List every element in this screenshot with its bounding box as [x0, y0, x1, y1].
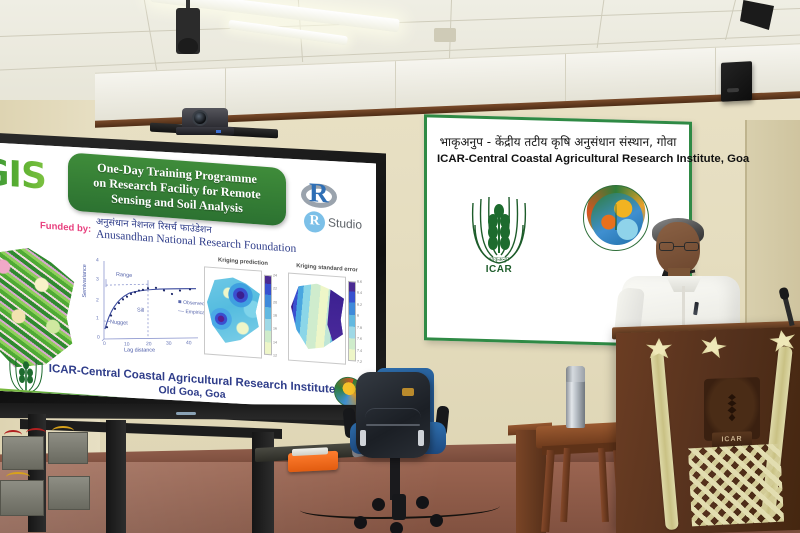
- backpack-logo: [402, 388, 414, 396]
- variogram-annotation-range: Range: [116, 272, 132, 279]
- variogram-ytick: 0: [97, 334, 100, 340]
- variogram-xtick: 30: [166, 341, 172, 347]
- ptz-conference-camera[interactable]: [176, 108, 234, 138]
- kriging-prediction-map: Kriging prediction 24 22 20 18 16 14 12: [204, 266, 282, 364]
- cbar-tick: 14: [273, 340, 287, 345]
- variogram-chart: Semivariance Lag distance 4 3 2 1 0 0 10…: [86, 252, 202, 365]
- variogram-legend-observed: Observed: [183, 300, 205, 308]
- pen-icon: [693, 302, 699, 315]
- interactive-flat-panel-display[interactable]: GIS One-Day Training Programme on Resear…: [0, 128, 386, 428]
- banner-hindi-title: भाकृअनुप - केंद्रीय तटीय कृषि अनुसंधान स…: [437, 133, 679, 150]
- ceiling-fixture-bracket: [434, 28, 456, 42]
- icar-emblem-hindi-label: भाकृअनुप: [467, 255, 531, 263]
- variogram-ytick: 1: [96, 315, 99, 321]
- orange-power-strip[interactable]: [288, 451, 338, 473]
- variogram-xlabel: Lag distance: [124, 348, 156, 354]
- steel-thermos-flask[interactable]: [566, 366, 585, 428]
- kriging-prediction-colorbar: [264, 275, 272, 356]
- variogram-xtick: 10: [124, 341, 130, 347]
- cbar-tick: 8.6: [357, 280, 371, 285]
- palm-leaf-woven-panel: [688, 444, 784, 527]
- cbar-tick: 12: [273, 353, 287, 358]
- cbar-tick: 16: [273, 327, 287, 332]
- variogram-annotation-nugget: Nugget: [110, 319, 128, 326]
- icar-wheat-emblem: भाकृअनुप ICAR: [467, 185, 531, 277]
- variogram-xtick: 0: [103, 341, 106, 347]
- camera-lens-icon: [192, 110, 208, 126]
- variogram-annotation-sill: Sill: [137, 307, 144, 314]
- display-screen[interactable]: GIS One-Day Training Programme on Resear…: [0, 139, 376, 411]
- gis-logo-text: GIS: [0, 152, 46, 198]
- variogram-legend-empirical: Empirical: [185, 309, 206, 317]
- display-status-led: [176, 412, 196, 415]
- cbar-tick: 7.6: [357, 337, 371, 342]
- variogram-legend: ■ Observed — Empirical: [178, 298, 206, 318]
- variogram-ytick: 3: [96, 276, 99, 282]
- cbar-tick: 24: [273, 273, 287, 278]
- cbar-tick: 8.2: [357, 302, 371, 307]
- cbar-tick: 7.8: [357, 325, 371, 330]
- kriging-standard-error-colorbar: [348, 281, 356, 362]
- rstudio-logo-word: Studio: [328, 215, 362, 231]
- projector-mount: [176, 8, 200, 54]
- cbar-tick: 18: [273, 313, 287, 318]
- cbar-tick: 8.4: [357, 291, 371, 296]
- icar-emblem-english-label: ICAR: [467, 264, 531, 275]
- variogram-xtick: 20: [146, 341, 152, 347]
- cbar-tick: 8: [357, 314, 371, 319]
- black-backpack[interactable]: [356, 372, 430, 458]
- chair-base: [354, 492, 444, 526]
- backpack-buckle: [360, 430, 366, 446]
- backpack-buckle: [418, 430, 424, 446]
- podium-icar-emblem: ICAR: [704, 377, 760, 441]
- variogram-ytick: 4: [96, 257, 99, 263]
- wall-mounted-speaker: [721, 61, 752, 102]
- r-language-logo: R: [301, 179, 339, 212]
- kriging-standard-error-map: Kriging standard error 8.6 8.4 8.2 8 7.8…: [288, 272, 366, 370]
- variogram-ytick: 2: [96, 297, 99, 303]
- presentation-slide: GIS One-Day Training Programme on Resear…: [0, 139, 376, 411]
- r-logo-letter: R: [309, 177, 347, 211]
- backpack-zipper: [366, 424, 420, 426]
- rstudio-logo: R Studio: [304, 209, 376, 239]
- cbar-tick: 20: [273, 300, 287, 305]
- banner-english-title: ICAR-Central Coastal Agricultural Resear…: [437, 153, 679, 165]
- cbar-tick: 22: [273, 287, 287, 292]
- funded-by-label: Funded by:: [40, 220, 91, 235]
- conference-hall-scene: भाकृअनुप - केंद्रीय तटीय कृषि अनुसंधान स…: [0, 0, 800, 533]
- cbar-tick: 7.2: [357, 360, 371, 365]
- variogram-xtick: 40: [186, 340, 192, 346]
- inverter-battery-bank: [0, 430, 112, 533]
- cbar-tick: 7.4: [357, 348, 371, 353]
- rstudio-logo-letter: R: [304, 210, 325, 233]
- variogram-ylabel: Semivariance: [82, 264, 88, 298]
- eyeglasses-icon: [658, 242, 700, 251]
